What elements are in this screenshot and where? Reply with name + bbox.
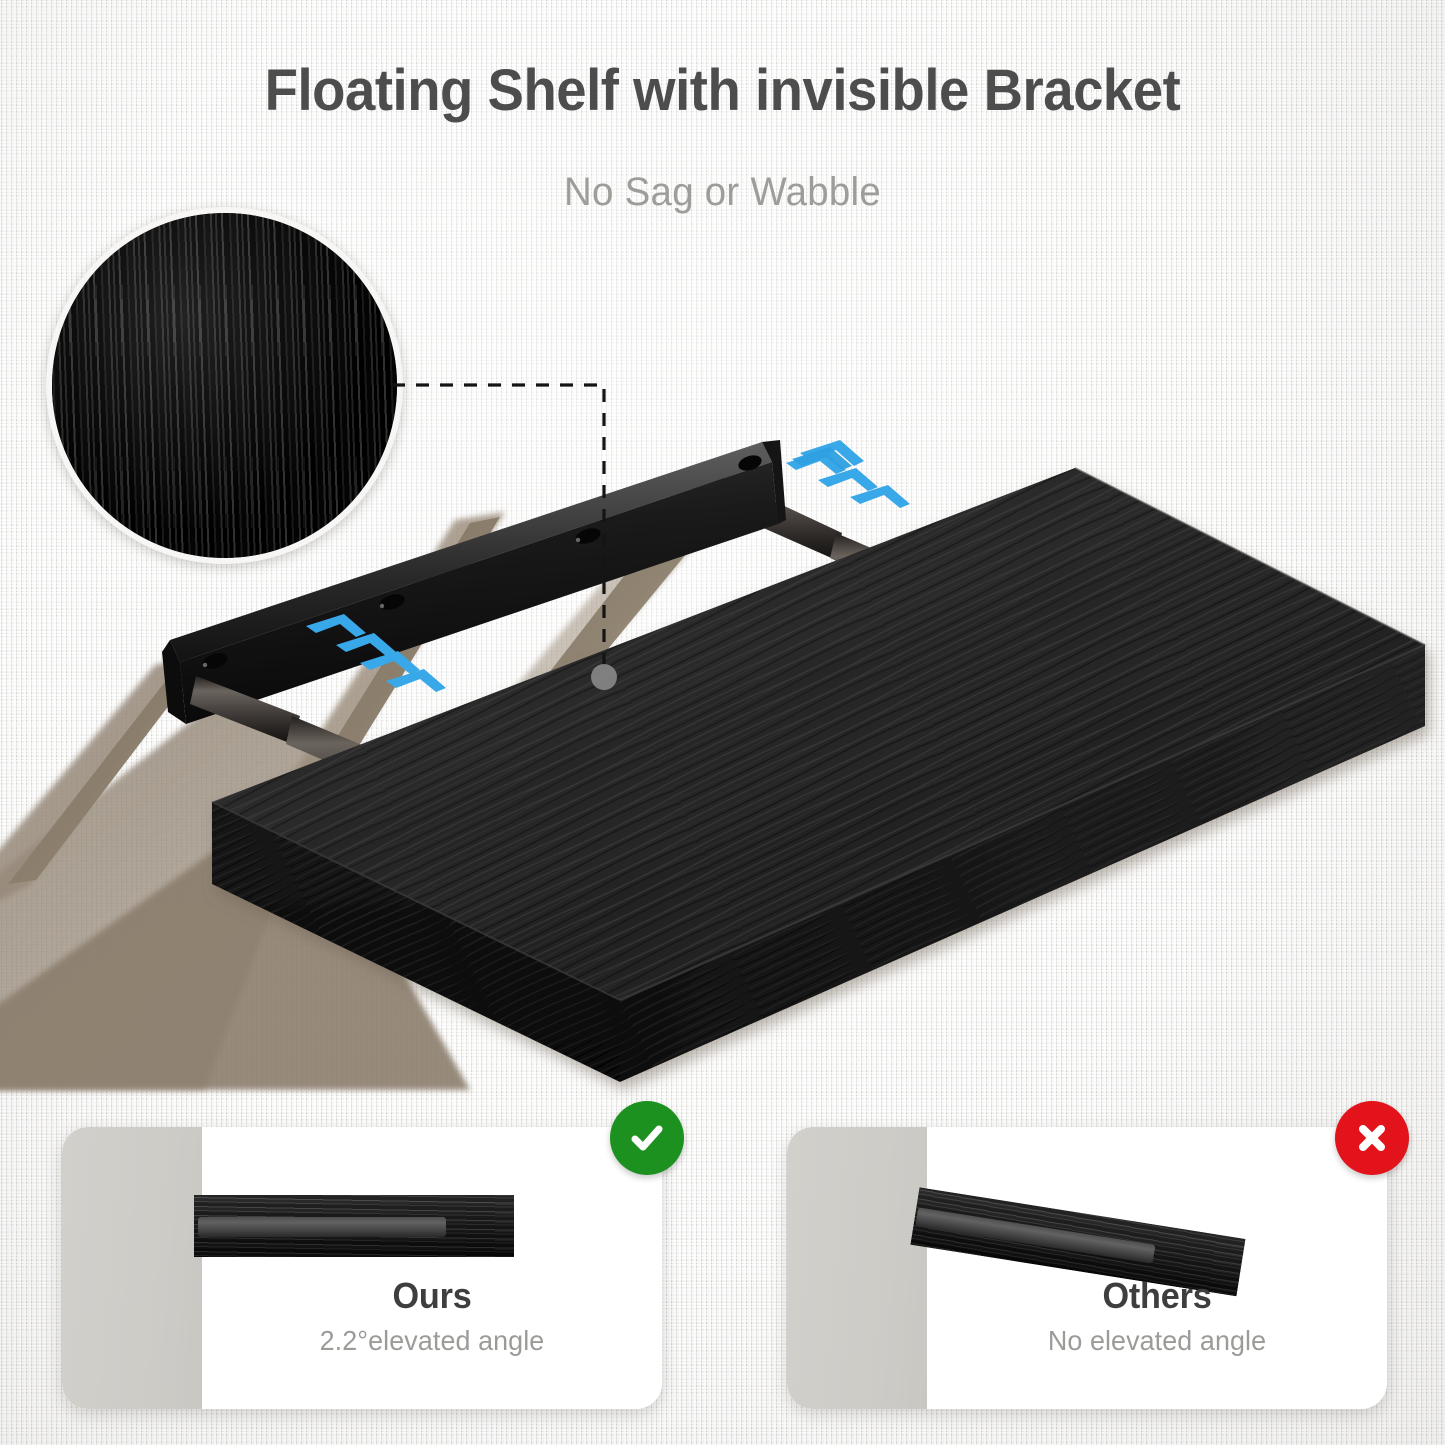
cross-badge xyxy=(1335,1101,1409,1175)
infographic-canvas: Floating Shelf with invisible Bracket No… xyxy=(0,0,1445,1445)
comparison-card-others[interactable]: Others No elevated angle xyxy=(787,1127,1387,1409)
motion-arrows-upper xyxy=(786,440,910,508)
comparison-section: Ours 2.2°elevated angle Others No elevat xyxy=(62,1127,1387,1422)
card-label-ours: Ours xyxy=(214,1275,651,1317)
card-wall-strip xyxy=(787,1127,927,1409)
check-icon xyxy=(625,1116,669,1160)
card-label-others: Others xyxy=(939,1275,1376,1317)
floating-shelf-board xyxy=(212,468,1425,1082)
callout-endpoint-dot xyxy=(591,664,617,690)
shelf-cross-section-ours xyxy=(194,1195,514,1257)
check-badge xyxy=(610,1101,684,1175)
close-icon xyxy=(1350,1116,1394,1160)
card-sub-ours: 2.2°elevated angle xyxy=(211,1325,653,1357)
comparison-card-ours[interactable]: Ours 2.2°elevated angle xyxy=(62,1127,662,1409)
card-sub-others: No elevated angle xyxy=(936,1325,1378,1357)
card-wall-strip xyxy=(62,1127,202,1409)
